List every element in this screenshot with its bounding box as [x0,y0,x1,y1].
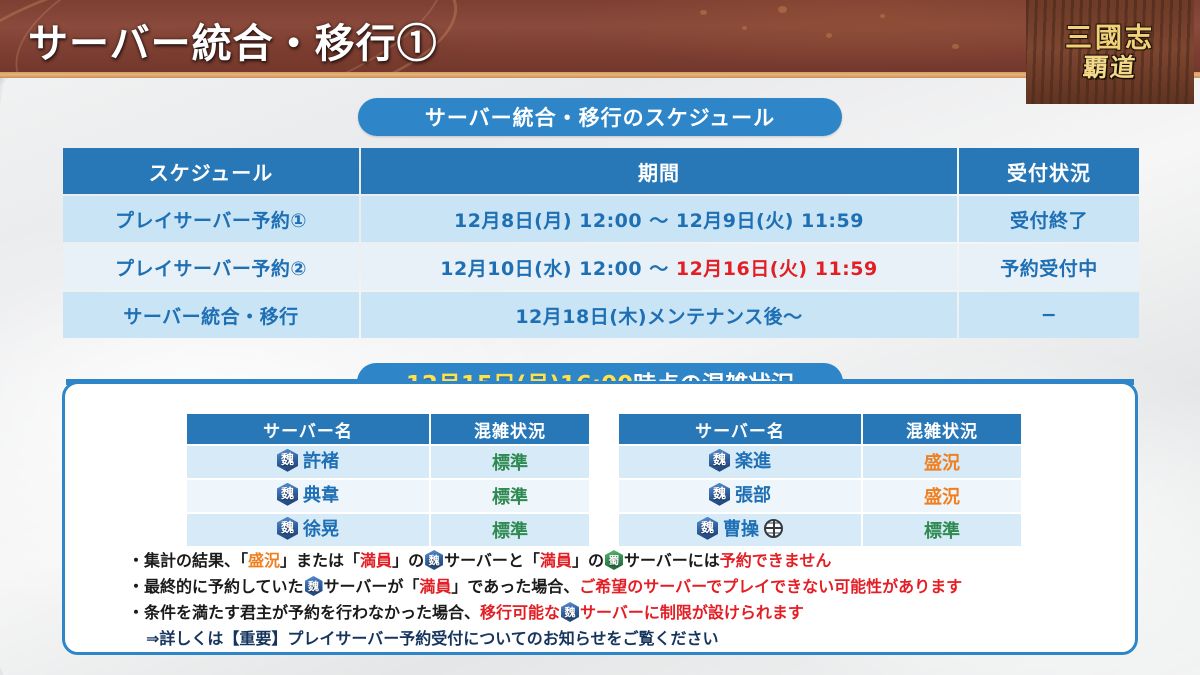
banner-speck-icon [952,44,959,49]
server-status: 標準 [431,480,589,512]
note-item-reference: ⇒詳しくは【重要】プレイサーバー予約受付についてのお知らせをご覧ください [128,626,1128,652]
period-text: 12月10日(水) 12:00 ～ [440,258,676,280]
server-col-status: 混雑状況 [431,414,589,444]
server-table-header-row: サーバー名 混雑状況 [619,414,1021,444]
schedule-cell-name: サーバー統合・移行 [63,292,359,338]
server-status: 標準 [431,514,589,546]
note-item: ・条件を満たす君主が予約を行わなかった場合、移行可能なサーバーに制限が設けられま… [128,600,1128,626]
table-row: サーバー統合・移行 12月18日(木)メンテナンス後～ − [63,292,1139,338]
server-name: 許褚 [303,447,339,473]
note-text: ・最終的に予約していた [128,577,304,596]
notes-list: ・集計の結果、「盛況」または「満員」のサーバーと「満員」のサーバーには予約できま… [128,548,1128,652]
server-col-name: サーバー名 [619,414,861,444]
server-col-status: 混雑状況 [863,414,1021,444]
note-text-warning: 予約できません [720,551,832,570]
schedule-col-status: 受付状況 [959,148,1139,194]
table-row: 楽進 盛況 [619,446,1021,478]
server-status: 盛況 [863,446,1021,478]
server-name-cell: 典韋 [187,480,429,512]
faction-wei-icon [425,550,443,570]
server-status: 標準 [431,446,589,478]
note-text-full: 満員 [540,551,572,570]
page-title: サーバー統合・移行① [28,11,438,69]
server-table-header-row: サーバー名 混雑状況 [187,414,589,444]
note-text: 」または「 [280,551,360,570]
note-text-warning: ご希望のサーバーでプレイできない可能性があります [579,577,962,596]
note-text-full: 満員 [419,577,451,596]
global-server-icon [764,519,783,538]
banner-underline [0,72,1200,78]
faction-wei-icon [561,602,579,622]
server-col-name: サーバー名 [187,414,429,444]
note-text: 」の [572,551,604,570]
faction-wei-icon [277,483,298,506]
table-row: 典韋 標準 [187,480,589,512]
note-item: ・最終的に予約していたサーバーが「満員」であった場合、ご希望のサーバーでプレイで… [128,574,1128,600]
game-logo: 三國志 覇道 [1026,0,1194,104]
schedule-cell-status: − [959,292,1139,338]
banner-speck-icon [742,26,747,30]
schedule-cell-period: 12月8日(月) 12:00 ～ 12月9日(火) 11:59 [361,196,957,242]
schedule-cell-status: 受付終了 [959,196,1139,242]
schedule-cell-name: プレイサーバー予約② [63,244,359,290]
table-row: 張部 盛況 [619,480,1021,512]
banner-speck-icon [880,14,885,18]
slide-root: サーバー統合・移行① 三國志 覇道 サーバー統合・移行のスケジュール スケジュー… [0,0,1200,675]
server-table-left: サーバー名 混雑状況 許褚 標準 [185,412,591,548]
note-text: ・条件を満たす君主が予約を行わなかった場合、 [128,603,480,622]
server-name: 典韋 [303,481,339,507]
banner-speck-icon [700,10,707,15]
faction-wei-icon [709,449,730,472]
period-text: 12月18日(木)メンテナンス後～ [515,306,802,328]
note-text-busy: 盛況 [248,551,280,570]
schedule-section-title: サーバー統合・移行のスケジュール [358,98,842,136]
banner-speck-icon [778,6,787,13]
logo-title-main: 三國志 [1065,25,1155,52]
note-text: サーバーが「 [324,577,420,596]
server-name: 曹操 [723,515,759,541]
faction-wei-icon [277,449,298,472]
server-name-cell: 曹操 [619,514,861,546]
server-status: 盛況 [863,480,1021,512]
period-text-highlight: 12月16日(火) 11:59 [676,258,878,280]
schedule-table: スケジュール 期間 受付状況 プレイサーバー予約① 12月8日(月) 12:00… [61,146,1141,340]
schedule-col-period: 期間 [361,148,957,194]
table-row: 許褚 標準 [187,446,589,478]
server-table-right: サーバー名 混雑状況 楽進 盛況 [617,412,1023,548]
note-text: 」であった場合、 [451,577,579,596]
server-name-cell: 張部 [619,480,861,512]
note-text: ・集計の結果、「 [128,551,248,570]
server-name: 徐晃 [303,515,339,541]
schedule-cell-name: プレイサーバー予約① [63,196,359,242]
faction-wei-icon [697,517,718,540]
faction-wei-icon [277,517,298,540]
faction-wei-icon [709,483,730,506]
schedule-col-schedule: スケジュール [63,148,359,194]
schedule-cell-status: 予約受付中 [959,244,1139,290]
server-status: 標準 [863,514,1021,546]
table-row: プレイサーバー予約② 12月10日(水) 12:00 ～ 12月16日(火) 1… [63,244,1139,290]
server-name: 楽進 [735,447,771,473]
note-text-full: 満員 [360,551,392,570]
server-name-cell: 許褚 [187,446,429,478]
server-name-cell: 楽進 [619,446,861,478]
note-text: サーバーと「 [444,551,540,570]
schedule-table-header-row: スケジュール 期間 受付状況 [63,148,1139,194]
faction-shu-icon [605,550,623,570]
period-text: 12月8日(月) 12:00 ～ 12月9日(火) 11:59 [454,210,864,232]
banner-speck-icon [826,33,832,38]
faction-wei-icon [305,576,323,596]
note-text: 」の [392,551,424,570]
table-row: 徐晃 標準 [187,514,589,546]
table-row: プレイサーバー予約① 12月8日(月) 12:00 ～ 12月9日(火) 11:… [63,196,1139,242]
logo-title-sub: 覇道 [1082,55,1138,80]
server-name-cell: 徐晃 [187,514,429,546]
note-text-warning: サーバーに制限が設けられます [580,603,804,622]
server-name: 張部 [735,481,771,507]
schedule-cell-period: 12月10日(水) 12:00 ～ 12月16日(火) 11:59 [361,244,957,290]
note-item: ・集計の結果、「盛況」または「満員」のサーバーと「満員」のサーバーには予約できま… [128,548,1128,574]
note-text: サーバーには [624,551,720,570]
schedule-cell-period: 12月18日(木)メンテナンス後～ [361,292,957,338]
table-row: 曹操 標準 [619,514,1021,546]
note-text-warning: 移行可能な [480,603,560,622]
